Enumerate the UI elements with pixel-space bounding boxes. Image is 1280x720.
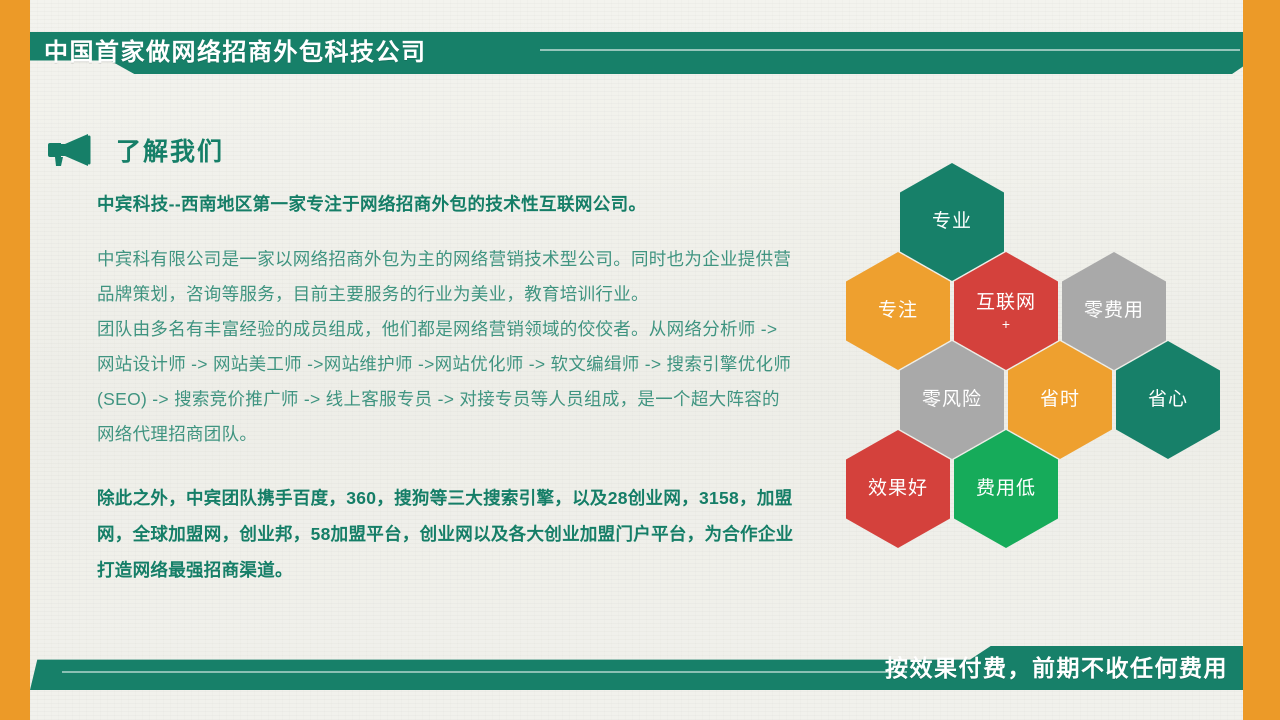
hexagon-cluster: 专业专注互联网+零费用零风险省时省心效果好费用低 xyxy=(836,160,1256,540)
hexagon-label: 专注 xyxy=(878,299,918,323)
hexagon-label: 专业 xyxy=(932,210,972,234)
hexagon-label: 省心 xyxy=(1148,388,1188,412)
header-accent-line xyxy=(540,49,1240,51)
lead-paragraph: 中宾科技--西南地区第一家专注于网络招商外包的技术性互联网公司。 xyxy=(97,190,797,218)
about-text-block: 中宾科技--西南地区第一家专注于网络招商外包的技术性互联网公司。 中宾科有限公司… xyxy=(97,190,797,588)
section-title: 了解我们 xyxy=(116,132,224,168)
hexagon-label: 费用低 xyxy=(976,477,1036,501)
megaphone-icon xyxy=(48,133,94,167)
hexagon-label: 互联网 xyxy=(976,291,1036,315)
section-heading: 了解我们 xyxy=(48,132,224,168)
hexagon-label: 效果好 xyxy=(868,477,928,501)
hexagon-label: 零费用 xyxy=(1084,299,1144,323)
body-paragraph-1: 中宾科有限公司是一家以网络招商外包为主的网络营销技术型公司。同时也为企业提供营品… xyxy=(97,242,797,312)
body-paragraph-2: 团队由多名有丰富经验的成员组成，他们都是网络营销领域的佼佼者。从网络分析师 ->… xyxy=(97,312,797,452)
page-title: 中国首家做网络招商外包科技公司 xyxy=(44,36,427,70)
hexagon-sublabel: + xyxy=(1002,316,1010,332)
hexagon-label: 省时 xyxy=(1040,388,1080,412)
closing-paragraph: 除此之外，中宾团队携手百度，360，搜狗等三大搜索引擎，以及28创业网，3158… xyxy=(97,480,797,588)
footer-slogan: 按效果付费，前期不收任何费用 xyxy=(885,650,1228,686)
hexagon-label: 零风险 xyxy=(922,388,982,412)
footer-accent-line xyxy=(62,671,907,673)
